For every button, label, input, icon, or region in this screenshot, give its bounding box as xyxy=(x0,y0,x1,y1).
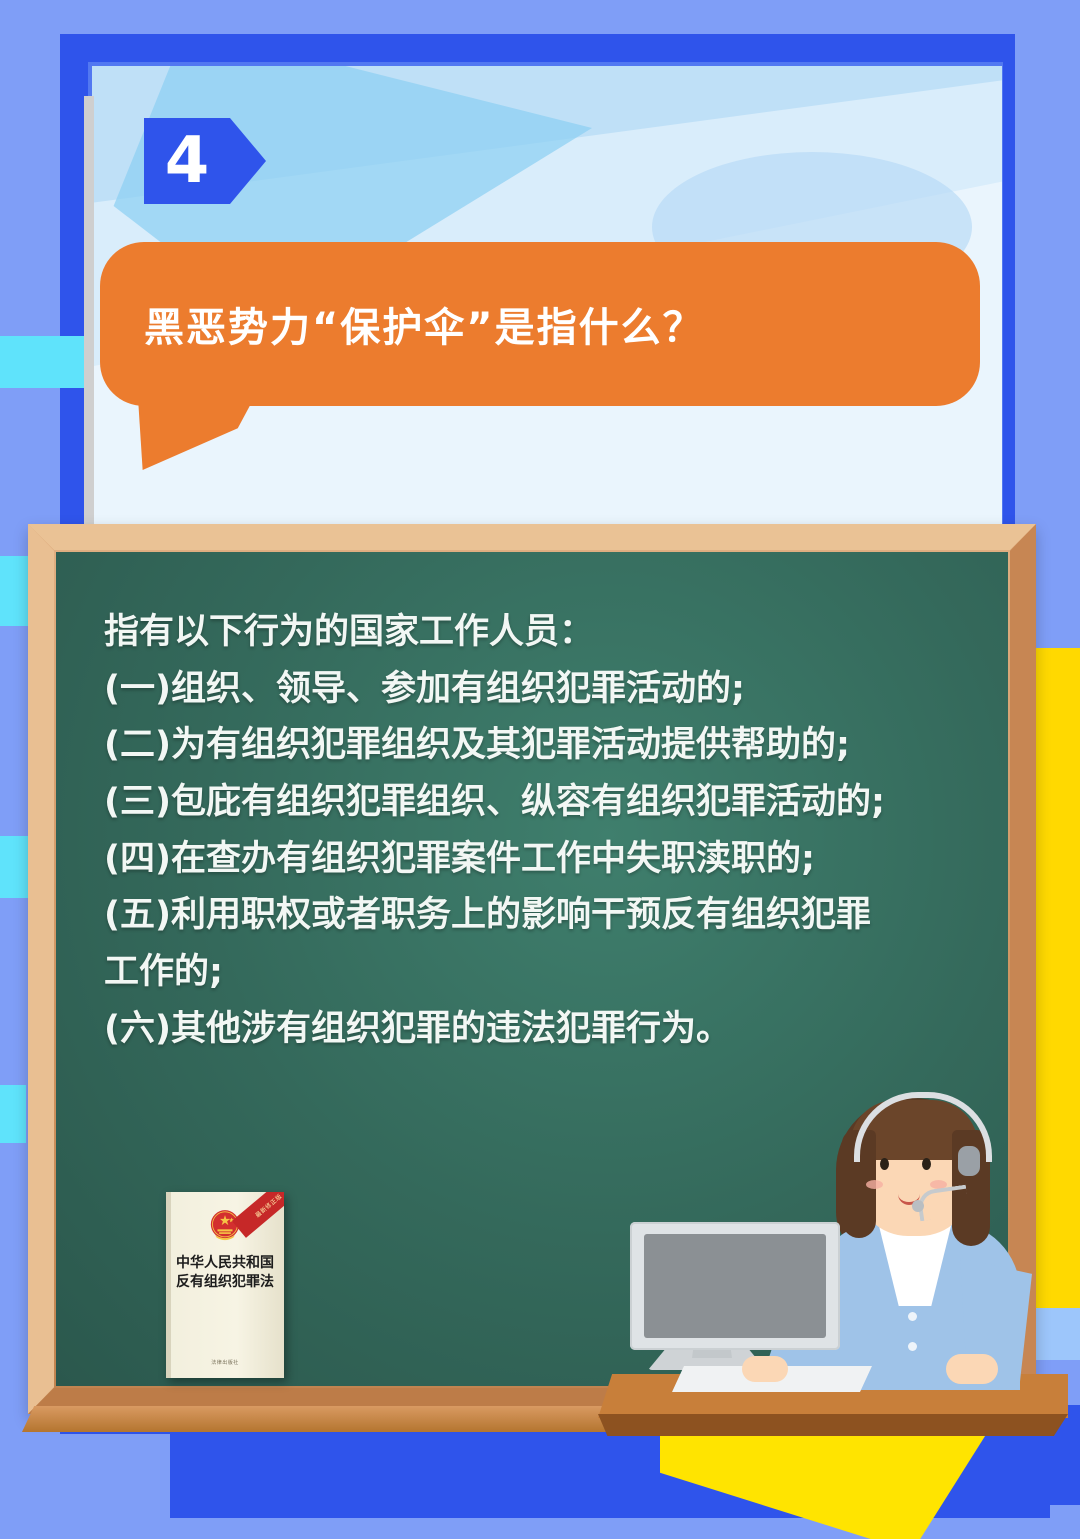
board-line: (六)其他涉有组织犯罪的违法犯罪行为。 xyxy=(104,1001,984,1058)
board-line: (三)包庇有组织犯罪组织、纵容有组织犯罪活动的; xyxy=(104,774,984,831)
blackboard-text-block: 指有以下行为的国家工作人员： (一)组织、领导、参加有组织犯罪活动的; (二)为… xyxy=(104,604,984,1058)
board-line: (二)为有组织犯罪组织及其犯罪活动提供帮助的; xyxy=(104,717,984,774)
headset-earcup-icon xyxy=(958,1146,980,1176)
badge-box: 4 xyxy=(144,118,230,204)
law-book-illustration: 最新修正版 中华人民共和国 反有组织犯罪法 法律出版社 xyxy=(166,1192,284,1378)
step-number-badge: 4 xyxy=(144,118,266,204)
book-corner-label: 最新修正版 xyxy=(232,1192,284,1238)
person-button-1 xyxy=(908,1312,917,1321)
book-title-line-2: 反有组织犯罪法 xyxy=(166,1273,284,1292)
badge-arrow-icon xyxy=(230,118,266,204)
headset-mic-tip-icon xyxy=(912,1200,924,1212)
board-line: (五)利用职权或者职务上的影响干预反有组织犯罪 xyxy=(104,887,984,944)
question-banner: 黑恶势力“保护伞”是指什么？ xyxy=(100,242,980,406)
book-publisher: 法律出版社 xyxy=(166,1359,284,1366)
poster-canvas: 4 黑恶势力“保护伞”是指什么？ 指有以下行为的国家工作人员： (一)组织、领导… xyxy=(0,0,1080,1539)
frame-bevel-top xyxy=(28,524,1036,550)
board-line: (四)在查办有组织犯罪案件工作中失职渎职的; xyxy=(104,831,984,888)
book-corner-ribbon: 最新修正版 xyxy=(232,1192,284,1238)
monitor-screen xyxy=(644,1234,826,1338)
decor-cyan-bar-1 xyxy=(0,336,92,388)
book-title-line-1: 中华人民共和国 xyxy=(166,1254,284,1273)
person-hand-left xyxy=(742,1356,788,1382)
badge-number-text: 4 xyxy=(165,129,210,193)
desk-edge xyxy=(598,1414,1068,1436)
person-button-2 xyxy=(908,1342,917,1351)
person-hand-right xyxy=(946,1354,998,1384)
computer-monitor xyxy=(630,1222,840,1350)
book-title: 中华人民共和国 反有组织犯罪法 xyxy=(166,1254,284,1292)
board-line: 指有以下行为的国家工作人员： xyxy=(104,604,984,661)
board-line: (一)组织、领导、参加有组织犯罪活动的; xyxy=(104,661,984,718)
person-blush-left xyxy=(866,1180,883,1189)
board-line: 工作的; xyxy=(104,944,984,1001)
question-title: 黑恶势力“保护伞”是指什么？ xyxy=(100,295,705,353)
frame-bevel-left xyxy=(28,524,54,1414)
decor-cyan-bar-4 xyxy=(0,1085,26,1143)
